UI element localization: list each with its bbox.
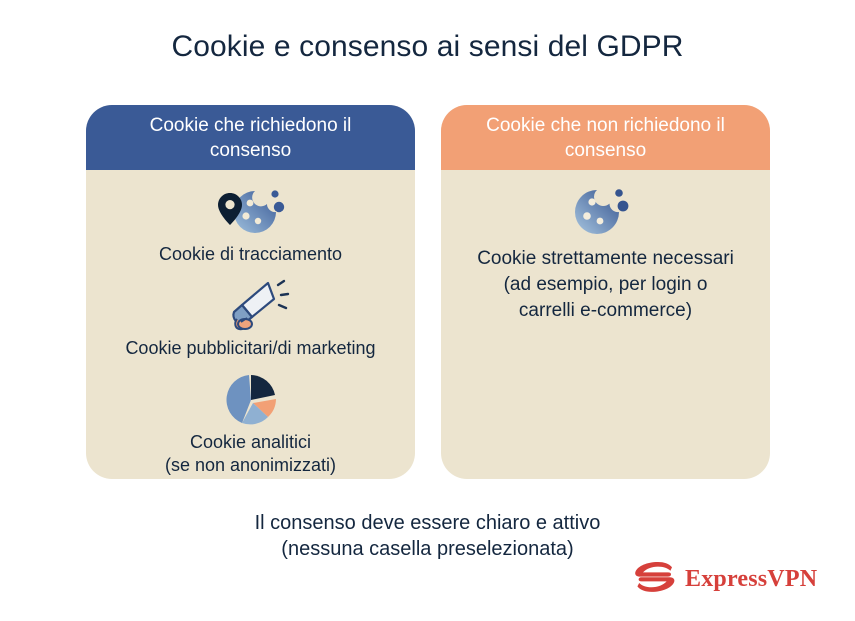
pie-chart-icon (220, 372, 282, 428)
list-item-label: Cookie analitici(se non anonimizzati) (151, 431, 350, 477)
cards-container: Cookie che richiedono il consenso (86, 105, 770, 479)
megaphone-icon (212, 278, 290, 334)
list-item: Cookie di tracciamento (86, 184, 415, 266)
list-item-label: Cookie strettamente necessari (ad esempi… (441, 246, 770, 324)
card-body-no-consent-required: Cookie strettamente necessari (ad esempi… (441, 170, 770, 479)
list-item: Cookie analitici(se non anonimizzati) (86, 372, 415, 477)
card-header-requires-consent: Cookie che richiedono il consenso (86, 105, 415, 170)
cookie-location-pin-icon (209, 184, 293, 240)
page-title: Cookie e consenso ai sensi del GDPR (0, 30, 855, 64)
list-item: Cookie pubblicitari/di marketing (86, 278, 415, 360)
footnote-text: Il consenso deve essere chiaro e attivo(… (0, 510, 855, 562)
list-item: Cookie strettamente necessari (ad esempi… (441, 184, 770, 324)
card-requires-consent: Cookie che richiedono il consenso (86, 105, 415, 479)
list-item-label: Cookie pubblicitari/di marketing (111, 337, 389, 360)
expressvpn-e-mark-icon (634, 562, 676, 597)
expressvpn-logo: ExpressVPN (634, 562, 817, 597)
card-no-consent-required: Cookie che non richiedono il consenso (441, 105, 770, 479)
cookie-icon (570, 184, 642, 240)
card-header-no-consent-required: Cookie che non richiedono il consenso (441, 105, 770, 170)
expressvpn-wordmark: ExpressVPN (685, 566, 817, 593)
card-body-requires-consent: Cookie di tracciamento (86, 170, 415, 479)
list-item-label: Cookie di tracciamento (145, 243, 356, 266)
